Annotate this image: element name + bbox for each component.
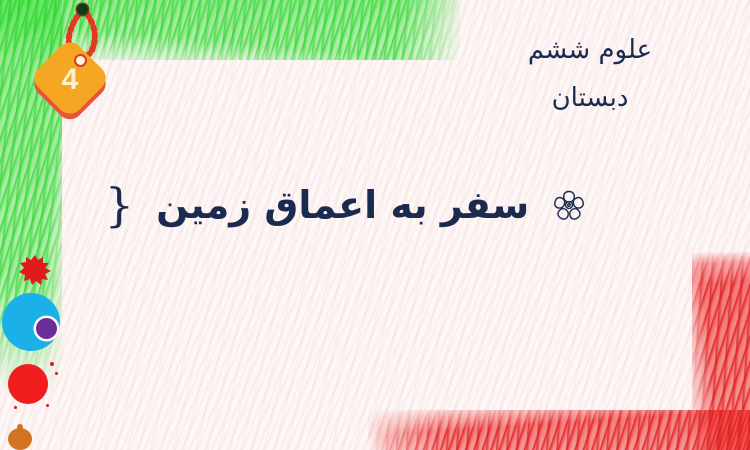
- paint-speck: [50, 362, 54, 366]
- paint-speck: [46, 404, 49, 407]
- slide-title-row: سفر به اعماق زمین {: [0, 178, 750, 232]
- tag-number-label: 4: [41, 49, 99, 107]
- slide-title-text: سفر به اعماق زمین: [156, 183, 529, 227]
- cord-eyelet-icon: [77, 4, 88, 15]
- orange-blob-decoration: [8, 428, 32, 450]
- paint-speck: [55, 372, 58, 375]
- red-crayon-bottom-band: [368, 410, 750, 450]
- header-line-subject: علوم ششم: [480, 26, 700, 74]
- flower-icon: [551, 187, 587, 223]
- title-opening-brace: {: [105, 178, 134, 232]
- red-splatter-icon: [18, 254, 52, 286]
- header-subject-block: علوم ششم دبستان: [480, 26, 700, 122]
- header-line-school-level: دبستان: [480, 74, 700, 122]
- red-circle-decoration: [8, 364, 48, 404]
- paint-speck: [14, 406, 17, 409]
- slide-canvas: 4 علوم ششم دبستان سفر به اعماق زمین {: [0, 0, 750, 450]
- hanging-number-tag: 4: [18, 0, 128, 135]
- purple-circle-decoration: [36, 318, 57, 339]
